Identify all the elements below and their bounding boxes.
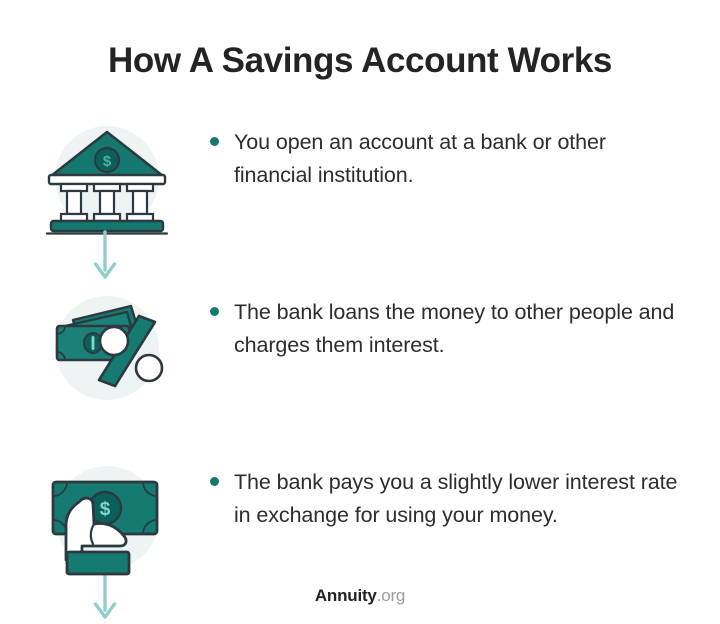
step-description: The bank pays you a slightly lower inter… xyxy=(234,466,686,532)
bank-building-glyph: $ xyxy=(39,120,171,238)
money-percent-icon xyxy=(39,290,171,408)
step-item: $ xyxy=(0,112,720,282)
arrow-down-glyph xyxy=(92,230,118,282)
hand-holding-money-glyph: $ xyxy=(39,460,171,578)
step-text-column: The bank pays you a slightly lower inter… xyxy=(210,452,720,532)
arrow-down-icon xyxy=(0,230,210,282)
page-title: How A Savings Account Works xyxy=(0,40,720,82)
step-icon-column: $ xyxy=(0,452,210,578)
step-text-column: The bank loans the money to other people… xyxy=(210,282,720,362)
step-icon-column xyxy=(0,282,210,408)
bullet-dot-icon xyxy=(210,477,219,486)
footer-brand-name: Annuity xyxy=(315,586,377,605)
infographic-canvas: How A Savings Account Works $ xyxy=(0,0,720,624)
bullet-dot-icon xyxy=(210,307,219,316)
step-icon-column: $ xyxy=(0,112,210,238)
bank-building-icon: $ xyxy=(39,120,171,238)
bullet-dot-icon xyxy=(210,137,219,146)
step-item: The bank loans the money to other people… xyxy=(0,282,720,452)
money-percent-glyph xyxy=(39,290,171,408)
steps-list: $ xyxy=(0,112,720,602)
step-item: $ The bank pays you a slightly lower int… xyxy=(0,452,720,602)
svg-text:$: $ xyxy=(103,153,112,170)
step-description: The bank loans the money to other people… xyxy=(234,296,686,362)
step-text-column: You open an account at a bank or other f… xyxy=(210,112,720,192)
footer-logo: Annuity.org xyxy=(0,586,720,606)
step-description: You open an account at a bank or other f… xyxy=(234,126,686,192)
hand-holding-money-icon: $ xyxy=(39,460,171,578)
footer-brand-tld: .org xyxy=(377,586,406,605)
svg-text:$: $ xyxy=(100,499,111,520)
